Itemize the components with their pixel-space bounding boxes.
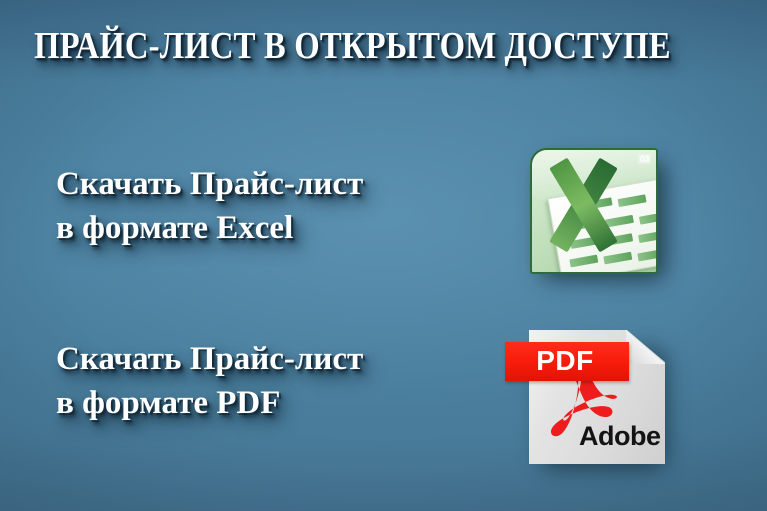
download-pdf-link[interactable]: Скачать Прайс-лист в формате PDF (56, 337, 363, 425)
download-excel-link[interactable]: Скачать Прайс-лист в формате Excel (56, 162, 363, 250)
excel-icon-body: 03 (530, 148, 658, 274)
excel-icon-letter-x (544, 162, 622, 248)
pdf-icon-brand-label: Adobe (579, 422, 661, 450)
download-excel-line2: в формате Excel (56, 206, 363, 250)
excel-file-icon[interactable]: 03 (530, 148, 658, 274)
download-pdf-line2: в формате PDF (56, 381, 363, 425)
pdf-icon-banner-label: PDF (505, 346, 625, 376)
page-title: ПРАЙС-ЛИСТ В ОТКРЫТОМ ДОСТУПЕ (34, 24, 671, 68)
price-list-banner: ПРАЙС-ЛИСТ В ОТКРЫТОМ ДОСТУПЕ Скачать Пр… (0, 0, 767, 511)
pdf-file-icon[interactable]: PDF Adobe (505, 330, 665, 464)
download-excel-line1: Скачать Прайс-лист (56, 166, 363, 202)
download-pdf-line1: Скачать Прайс-лист (56, 341, 363, 377)
pdf-icon-banner: PDF (505, 342, 629, 381)
excel-icon-version-badge: 03 (638, 154, 651, 164)
